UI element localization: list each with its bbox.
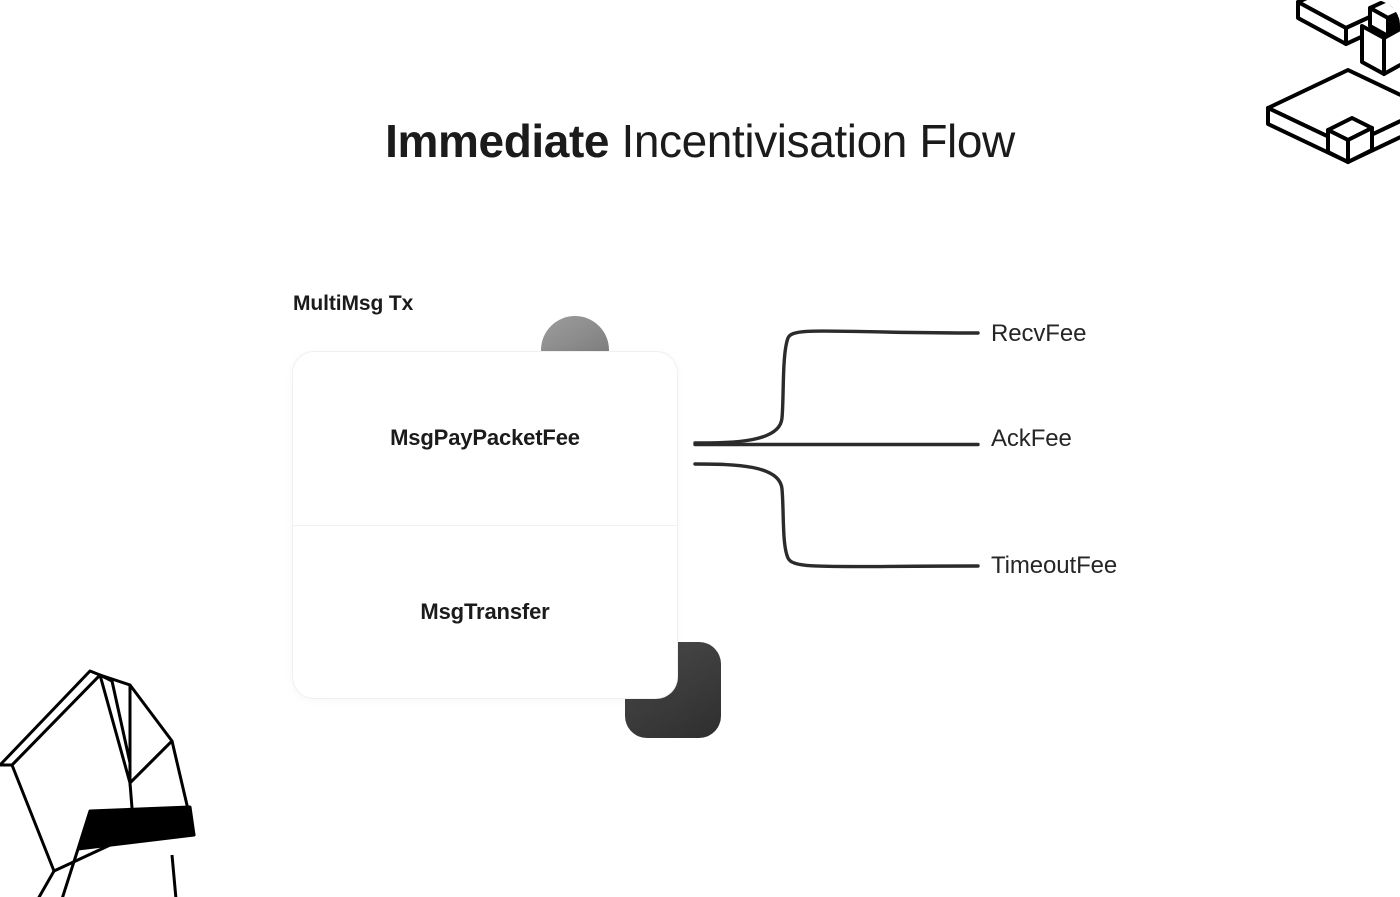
timeoutfee-connector-path xyxy=(695,464,978,567)
multimsg-tx-card: MsgPayPacketFee MsgTransfer xyxy=(293,352,677,698)
fee-label-timeoutfee: TimeoutFee xyxy=(991,552,1117,580)
tx-message-row[interactable]: MsgPayPacketFee xyxy=(293,352,677,525)
isometric-blocks-bottom-left-icon xyxy=(0,655,226,897)
page-title: Immediate Incentivisation Flow xyxy=(0,112,1400,170)
multimsg-tx-label: MultiMsg Tx xyxy=(293,292,413,316)
tx-message-row[interactable]: MsgTransfer xyxy=(293,525,677,699)
fee-label-ackfee: AckFee xyxy=(991,425,1072,453)
tx-message-label: MsgPayPacketFee xyxy=(390,425,580,451)
fee-label-recvfee: RecvFee xyxy=(991,320,1086,348)
fee-connector-lines xyxy=(690,300,990,600)
slide-canvas: Immediate Incentivisation Flow xyxy=(0,0,1400,897)
page-title-light: Incentivisation Flow xyxy=(609,115,1015,167)
page-title-strong: Immediate xyxy=(385,115,609,167)
tx-message-label: MsgTransfer xyxy=(420,599,549,625)
recvfee-connector-path xyxy=(695,331,978,443)
